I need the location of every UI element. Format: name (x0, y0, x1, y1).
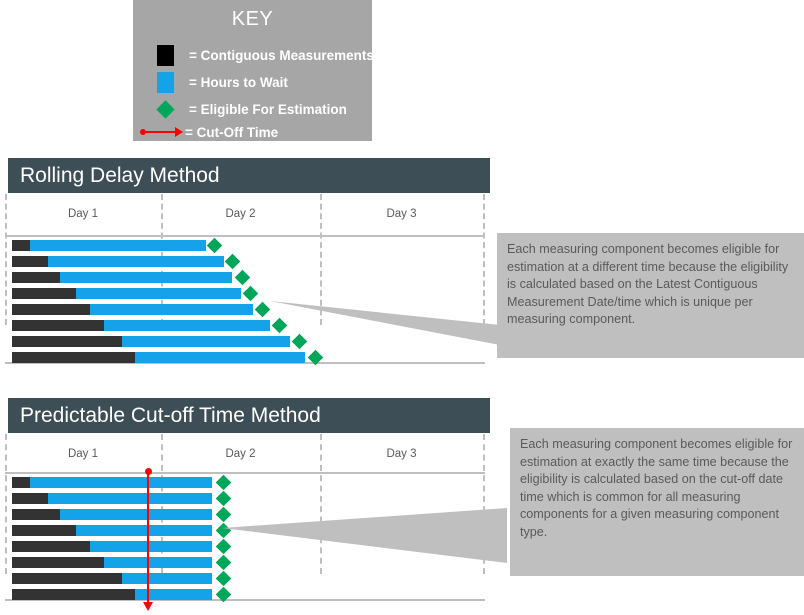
bar-row (12, 573, 242, 584)
bar-segment-contiguous (12, 272, 60, 283)
day-axis-predictable-cutoff: Day 1 Day 2 Day 3 (5, 435, 485, 473)
bar-row (12, 288, 262, 299)
bar-segment-hours-to-wait (122, 573, 212, 584)
gridline-day1 (161, 434, 163, 574)
cutoff-line (147, 471, 149, 603)
bar-row (12, 509, 242, 520)
key-title: KEY (133, 8, 372, 31)
cutoff-line-arrowhead (143, 602, 153, 611)
bar-segment-contiguous (12, 352, 135, 363)
eligible-marker (225, 254, 241, 270)
key-item-hours-to-wait: = Hours to Wait (143, 71, 288, 93)
bar-row (12, 336, 304, 347)
bar-segment-contiguous (12, 320, 104, 331)
day-label: Day 1 (5, 195, 161, 233)
day-label: Day 1 (5, 435, 161, 473)
bar-segment-hours-to-wait (90, 304, 253, 315)
day-label: Day 3 (320, 435, 483, 473)
callout-connector-rolling-delay (270, 295, 500, 345)
bar-row (12, 589, 242, 600)
bar-row (12, 493, 242, 504)
key-item-label: = Contiguous Measurements (189, 48, 374, 63)
bar-segment-hours-to-wait (60, 509, 212, 520)
plot-top-rule (5, 472, 485, 474)
day-label: Day 2 (161, 195, 320, 233)
eligible-marker (243, 286, 259, 302)
eligible-marker (216, 475, 232, 491)
bar-row (12, 256, 242, 267)
bar-row (12, 240, 232, 251)
bar-segment-contiguous (12, 493, 48, 504)
key-item-contiguous-measurements: = Contiguous Measurements (143, 44, 374, 66)
chart-title-predictable-cutoff: Predictable Cut-off Time Method (8, 398, 490, 433)
bar-segment-contiguous (12, 509, 60, 520)
black-square-icon (143, 45, 187, 66)
bar-row (12, 304, 274, 315)
callout-connector-predictable-cutoff (222, 508, 507, 563)
bar-row (12, 272, 252, 283)
bar-segment-contiguous (12, 541, 90, 552)
bar-segment-contiguous (12, 240, 30, 251)
key-item-label: = Eligible For Estimation (189, 102, 347, 117)
chart-title-rolling-delay: Rolling Delay Method (8, 158, 490, 193)
bar-segment-hours-to-wait (122, 336, 290, 347)
bar-segment-hours-to-wait (104, 557, 212, 568)
bar-segment-contiguous (12, 477, 30, 488)
key-item-label: = Hours to Wait (189, 75, 288, 90)
plot-top-rule (5, 235, 485, 237)
bar-segment-hours-to-wait (48, 493, 212, 504)
bar-segment-hours-to-wait (76, 525, 212, 536)
callout-text-predictable-cutoff: Each measuring component becomes eligibl… (510, 428, 804, 576)
eligible-marker (255, 302, 271, 318)
key-legend-box: KEY = Contiguous Measurements = Hours to… (133, 0, 372, 141)
gridline-day0 (5, 194, 7, 325)
bar-segment-contiguous (12, 304, 90, 315)
bar-row (12, 320, 287, 331)
gridline-day0 (5, 434, 7, 574)
key-item-eligible-for-estimation: = Eligible For Estimation (143, 98, 347, 120)
bar-segment-hours-to-wait (76, 288, 241, 299)
callout-text-rolling-delay: Each measuring component becomes eligibl… (497, 233, 804, 358)
day-label: Day 3 (320, 195, 483, 233)
bar-segment-contiguous (12, 589, 135, 600)
eligible-marker (216, 571, 232, 587)
eligible-marker (216, 587, 232, 603)
bar-segment-hours-to-wait (60, 272, 232, 283)
bar-row (12, 525, 242, 536)
green-diamond-icon (143, 103, 187, 116)
bar-segment-contiguous (12, 256, 48, 267)
red-arrow-icon (139, 126, 183, 138)
key-item-label: = Cut-Off Time (185, 125, 278, 140)
bar-segment-contiguous (12, 288, 76, 299)
bar-row (12, 477, 242, 488)
bar-row (12, 541, 242, 552)
bar-segment-contiguous (12, 557, 104, 568)
bar-segment-contiguous (12, 336, 122, 347)
bar-segment-hours-to-wait (30, 240, 206, 251)
bar-segment-contiguous (12, 573, 122, 584)
blue-square-icon (143, 72, 187, 93)
bar-segment-hours-to-wait (48, 256, 224, 267)
day-axis-rolling-delay: Day 1 Day 2 Day 3 (5, 195, 485, 233)
bar-segment-hours-to-wait (30, 477, 212, 488)
bar-segment-hours-to-wait (135, 352, 305, 363)
bar-segment-contiguous (12, 525, 76, 536)
eligible-marker (207, 238, 223, 254)
bar-row (12, 557, 242, 568)
day-label: Day 2 (161, 435, 320, 473)
bar-segment-hours-to-wait (90, 541, 212, 552)
bar-segment-hours-to-wait (104, 320, 270, 331)
bar-row (12, 352, 320, 363)
eligible-marker (235, 270, 251, 286)
eligible-marker (216, 491, 232, 507)
key-item-cut-off-time: = Cut-Off Time (139, 121, 278, 143)
